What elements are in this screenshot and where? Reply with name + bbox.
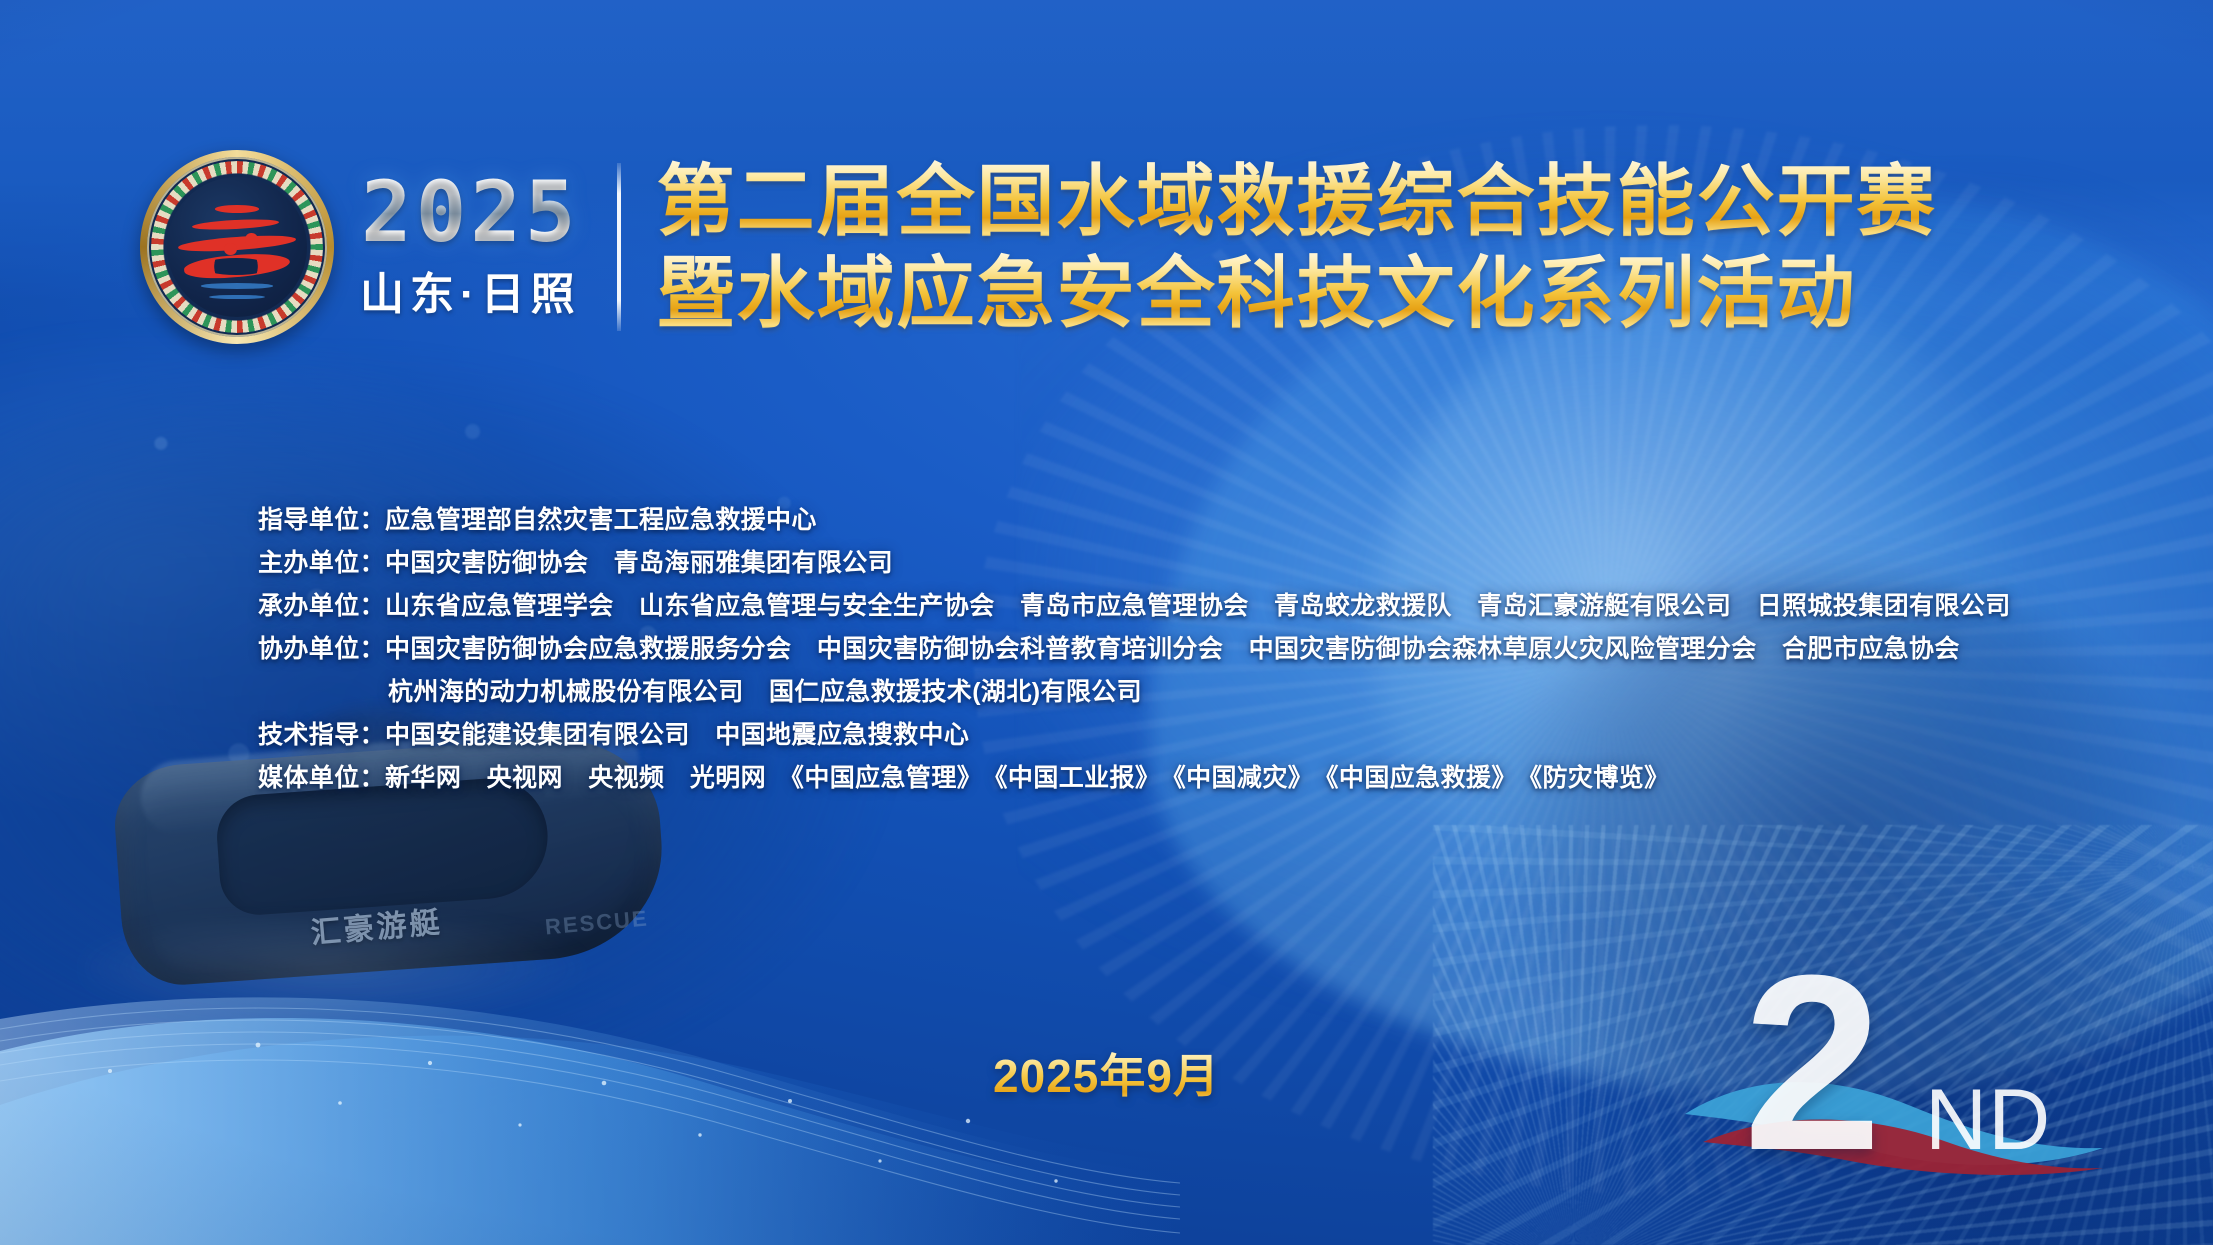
- org-row: 主办单位： 中国灾害防御协会 青岛海丽雅集团有限公司: [258, 543, 2011, 586]
- year-city-block: 2025 山东·日照: [360, 172, 581, 323]
- emblem-stripe-2: [192, 218, 279, 232]
- header-lockup: 2025 山东·日照 第二届全国水域救援综合技能公开赛 暨水域应急安全科技文化系…: [140, 150, 1937, 344]
- org-row: 媒体单位： 新华网 央视网 央视频 光明网 《中国应急管理》 《中国工业报》 《…: [258, 758, 2011, 801]
- emblem-core: [167, 177, 307, 317]
- vertical-divider: [617, 163, 621, 331]
- org-value: 山东省应急管理学会 山东省应急管理与安全生产协会 青岛市应急管理协会 青岛蛟龙救…: [385, 586, 2011, 622]
- org-value: 杭州海的动力机械股份有限公司 国仁应急救援技术(湖北)有限公司: [388, 672, 1142, 708]
- org-label: 主办单位：: [258, 543, 385, 579]
- water-rescue-emblem-icon: [140, 150, 334, 344]
- emblem-head-dot-2: [245, 233, 258, 246]
- event-title-line-1: 第二届全国水域救援综合技能公开赛: [657, 159, 1937, 243]
- org-value: 新华网 央视网 央视频 光明网 《中国应急管理》 《中国工业报》 《中国减灾》 …: [385, 758, 1670, 794]
- emblem-water-line-1: [201, 283, 274, 289]
- org-label: 技术指导：: [258, 715, 385, 751]
- org-label: 协办单位：: [258, 629, 385, 665]
- org-label: 媒体单位：: [258, 758, 385, 794]
- org-row: 指导单位： 应急管理部自然灾害工程应急救援中心: [258, 500, 2011, 543]
- org-label: 指导单位：: [258, 500, 385, 536]
- emblem-water-line-2: [209, 295, 265, 300]
- edition-number: 2: [1743, 938, 1882, 1188]
- emblem-head-dot-1: [224, 243, 237, 256]
- emblem-stripe-3: [178, 233, 296, 254]
- org-value: 中国灾害防御协会应急救援服务分会 中国灾害防御协会科普教育培训分会 中国灾害防御…: [385, 629, 1960, 665]
- org-value: 应急管理部自然灾害工程应急救援中心: [385, 500, 817, 536]
- org-row-continuation: 杭州海的动力机械股份有限公司 国仁应急救援技术(湖北)有限公司: [258, 672, 2011, 715]
- org-row: 承办单位： 山东省应急管理学会 山东省应急管理与安全生产协会 青岛市应急管理协会…: [258, 586, 2011, 629]
- org-value: 中国灾害防御协会 青岛海丽雅集团有限公司: [385, 543, 893, 579]
- org-label: 承办单位：: [258, 586, 385, 622]
- year-label: 2025: [361, 172, 579, 253]
- org-value: 中国安能建设集团有限公司 中国地震应急搜救中心: [385, 715, 969, 751]
- organization-list: 指导单位： 应急管理部自然灾害工程应急救援中心 主办单位： 中国灾害防御协会 青…: [258, 500, 2011, 801]
- second-edition-mark: 2 ND: [1743, 960, 2103, 1210]
- title-block: 第二届全国水域救援综合技能公开赛 暨水域应急安全科技文化系列活动: [657, 159, 1937, 335]
- edition-suffix: ND: [1925, 1071, 2051, 1170]
- boat-spray: [80, 920, 700, 1040]
- emblem-swimmer-cutout: [201, 258, 271, 275]
- event-banner: 汇豪游艇 RESCUE: [0, 0, 2213, 1245]
- city-label: 山东·日照: [360, 258, 581, 322]
- org-row: 技术指导： 中国安能建设集团有限公司 中国地震应急搜救中心: [258, 715, 2011, 758]
- emblem-stripe-1: [215, 205, 260, 213]
- event-title-line-2: 暨水域应急安全科技文化系列活动: [657, 251, 1937, 335]
- org-row: 协办单位： 中国灾害防御协会应急救援服务分会 中国灾害防御协会科普教育培训分会 …: [258, 629, 2011, 672]
